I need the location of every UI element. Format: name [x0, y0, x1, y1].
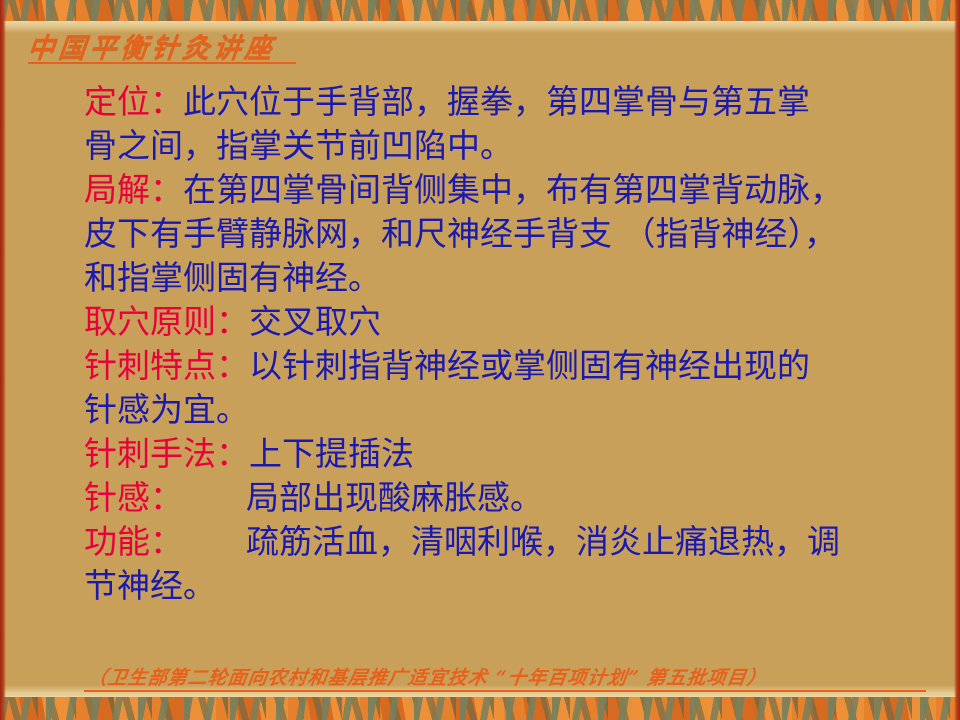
content-line: 针感： 局部出现酸麻胀感。	[84, 476, 940, 520]
content-line-text: 节神经。	[84, 566, 216, 605]
right-edge-stripe	[954, 0, 960, 720]
content-line: 针刺特点：以针刺指背神经或掌侧固有神经出现的	[84, 344, 940, 388]
content-line: 和指掌侧固有神经。	[84, 256, 940, 300]
content-line-text: 上下提插法	[249, 434, 414, 473]
content-line: 节神经。	[84, 564, 940, 608]
content-line-label: 针感：	[84, 478, 183, 517]
content-line-text: 和指掌侧固有神经。	[84, 258, 381, 297]
content-line-label: 针刺手法：	[84, 434, 249, 473]
content-line-label: 功能：	[84, 522, 183, 561]
content-line: 局解：在第四掌骨间背侧集中，布有第四掌背动脉，	[84, 168, 940, 212]
content-line: 针刺手法：上下提插法	[84, 432, 940, 476]
content-line-text: 以针刺指背神经或掌侧固有神经出现的	[249, 346, 810, 385]
content-line-text: 疏筋活血，清咽利喉，消炎止痛退热，调	[183, 522, 840, 561]
top-border-band	[0, 0, 960, 21]
content-line-text: 局部出现酸麻胀感。	[183, 478, 543, 517]
content-line-text: 针感为宜。	[84, 390, 249, 429]
left-edge-stripe	[0, 0, 6, 720]
slide-header-title: 中国平衡针灸讲座	[26, 26, 278, 65]
slide-canvas: 中国平衡针灸讲座 定位：此穴位于手背部，握拳，第四掌骨与第五掌骨之间，指掌关节前…	[0, 0, 960, 720]
content-line: 骨之间，指掌关节前凹陷中。	[84, 124, 940, 168]
content-line-text: 交叉取穴	[249, 302, 381, 341]
content-line-text: 骨之间，指掌关节前凹陷中。	[84, 126, 513, 165]
footer-underline	[84, 690, 926, 692]
content-line-text: 此穴位于手背部，握拳，第四掌骨与第五掌	[183, 82, 810, 121]
content-line-label: 针刺特点：	[84, 346, 249, 385]
header-underline	[28, 62, 296, 64]
content-line-label: 定位：	[84, 82, 183, 121]
slide-body: 定位：此穴位于手背部，握拳，第四掌骨与第五掌骨之间，指掌关节前凹陷中。局解：在第…	[84, 80, 940, 608]
content-line-label: 取穴原则：	[84, 302, 249, 341]
content-line: 取穴原则：交叉取穴	[84, 300, 940, 344]
content-line-text: 皮下有手臂静脉网，和尺神经手背支 （指背神经），	[84, 214, 837, 253]
content-line-text: 在第四掌骨间背侧集中，布有第四掌背动脉，	[183, 170, 843, 209]
content-line: 皮下有手臂静脉网，和尺神经手背支 （指背神经），	[84, 212, 940, 256]
content-line-label: 局解：	[84, 170, 183, 209]
slide-footer-text: （卫生部第二轮面向农村和基层推广适宜技术 “十年百项计划” 第五批项目）	[86, 663, 769, 690]
bottom-border-band	[0, 697, 960, 720]
content-line: 针感为宜。	[84, 388, 940, 432]
content-line: 功能： 疏筋活血，清咽利喉，消炎止痛退热，调	[84, 520, 940, 564]
content-line: 定位：此穴位于手背部，握拳，第四掌骨与第五掌	[84, 80, 940, 124]
